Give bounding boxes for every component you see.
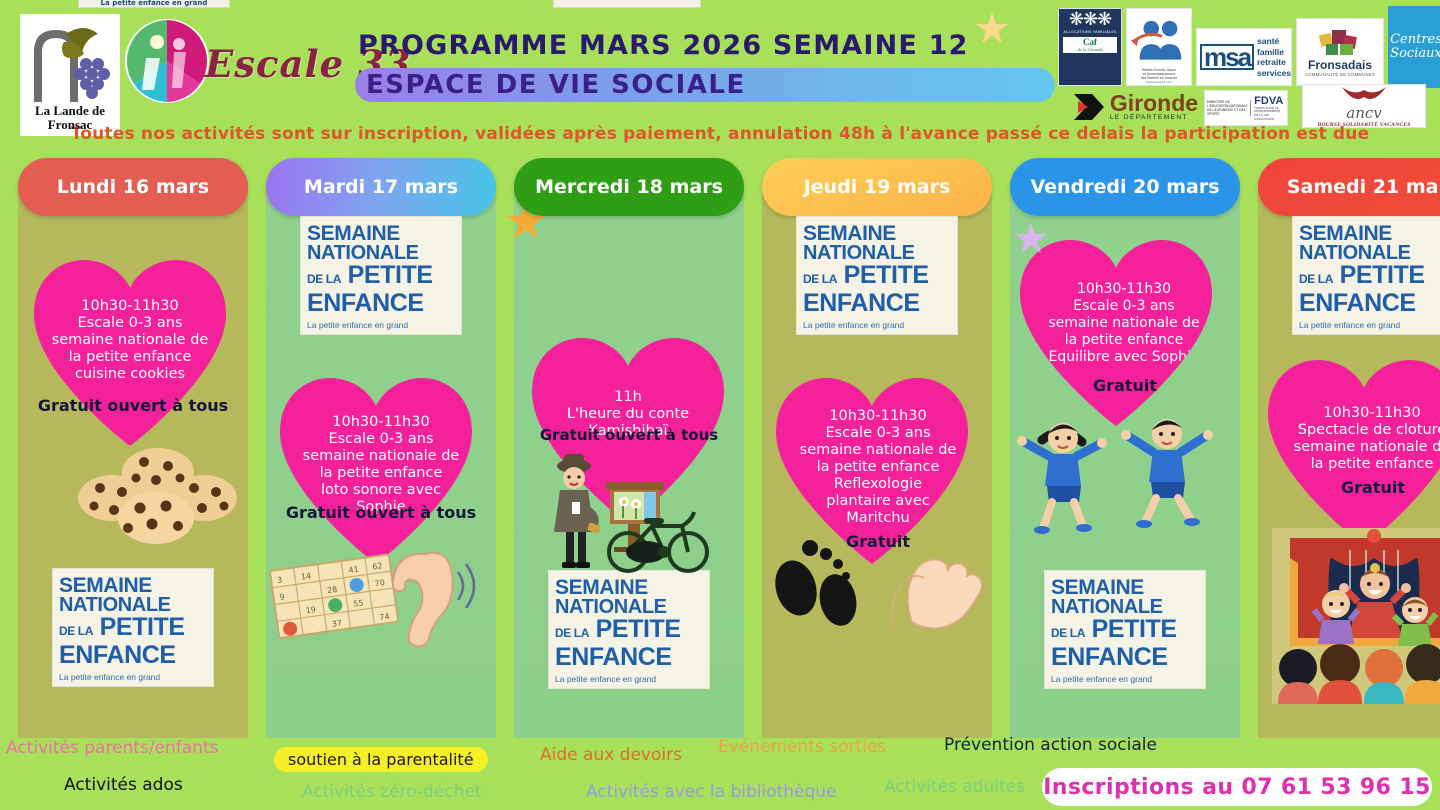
day-label: Mercredi 18 mars [535, 176, 723, 198]
seagull-icon [1340, 84, 1388, 104]
fronsadais-title: Fronsadais [1308, 58, 1372, 72]
snpe-line4: ENFANCE [555, 645, 703, 669]
free-label: Gratuit [1010, 376, 1240, 395]
snpe-line3-prefix: DE LA [59, 624, 93, 638]
free-label: Gratuit [798, 532, 958, 551]
day-header-jeudi[interactable]: Jeudi 19 mars [762, 158, 992, 216]
puppet-show-icon [1272, 528, 1440, 704]
legend-item-evenements: Evénements sorties [718, 737, 886, 757]
parents-icon: Réseau Ecoute, Appui et Accompagnement d… [1127, 9, 1191, 85]
bingo-card-and-ear-icon: 3144162 92870 193355 73774 [266, 536, 478, 666]
legend-bar: Activités parents/enfants soutien à la p… [0, 735, 1440, 810]
ancv-logo: ancv BOURSE SOLIDARITÉ VACANCES [1302, 84, 1426, 128]
svg-text:www.reaap33.com: www.reaap33.com [1146, 80, 1173, 84]
day-header-samedi[interactable]: Samedi 21 mars [1258, 158, 1440, 216]
snpe-line3-prefix: DE LA [803, 272, 837, 286]
msa-mark: msa [1200, 44, 1254, 70]
fdva-ministry: MINISTÈRE DE L'ÉDUCATION NATIONALE DE LA… [1207, 100, 1251, 116]
activity-text: 10h30-11h30 Spectacle de cloture semaine… [1292, 405, 1440, 473]
centres-sociaux-logo: Centres Sociaux [1388, 6, 1440, 88]
kids-jumping-icon [1016, 404, 1234, 534]
snpe-line4: ENFANCE [1051, 645, 1199, 669]
snpe-line1: SEMAINE [555, 578, 703, 598]
snpe-poster: SEMAINE NATIONALE DE LA PETITE ENFANCE L… [300, 216, 462, 335]
snpe-line1: SEMAINE [1299, 224, 1440, 244]
day-label: Samedi 21 mars [1287, 176, 1440, 198]
legend-item-adultes: Activités adultes [884, 777, 1025, 797]
svg-text:74: 74 [379, 612, 390, 622]
snpe-tagline: La petite enfance en grand [803, 320, 951, 330]
day-label: Lundi 16 mars [57, 176, 209, 198]
day-column-samedi: Samedi 21 mars SEMAINE NATIONALE DE LA P… [1258, 158, 1440, 738]
svg-text:62: 62 [372, 561, 383, 571]
partner-logos: ❋❋❋ ALLOCATIONS FAMILIALES Caf de la Gir… [1054, 4, 1436, 126]
snpe-poster: SEMAINE NATIONALE DE LA PETITE ENFANCE L… [52, 568, 214, 687]
free-label: Gratuit ouvert à tous [514, 426, 744, 444]
activity-text: 10h30-11h30 Escale 0-3 ans semaine natio… [50, 298, 211, 383]
day-column-mardi: Mardi 17 mars SEMAINE NATIONALE DE LA PE… [266, 158, 496, 738]
snpe-line3-prefix: DE LA [1051, 626, 1085, 640]
gironde-logo: Gironde LE DÉPARTEMENT [1070, 88, 1200, 126]
snpe-tagline: La petite enfance en grand [555, 674, 703, 684]
day-column-jeudi: Jeudi 19 mars SEMAINE NATIONALE DE LA PE… [762, 158, 992, 738]
snpe-line1: SEMAINE [1051, 578, 1199, 598]
legend-item-parents-enfants: Activités parents/enfants [6, 738, 218, 758]
svg-text:14: 14 [300, 571, 311, 581]
activity-text: 10h30-11h30 Escale 0-3 ans semaine natio… [301, 414, 462, 516]
poster-header: La Lande de Fronsac Escale 33 PROGRAMME … [0, 0, 1440, 128]
msa-logo: msa santé famille retraite services [1196, 28, 1292, 86]
snpe-tagline: La petite enfance en grand [1051, 674, 1199, 684]
svg-text:28: 28 [327, 585, 338, 595]
snpe-poster: SEMAINE NATIONALE DE LA PETITE ENFANCE L… [1044, 570, 1206, 689]
subtitle-text: ESPACE DE VIE SOCIALE [366, 70, 746, 100]
legend-item-aide-devoirs: Aide aux devoirs [540, 745, 682, 765]
snpe-line4: ENFANCE [59, 643, 207, 667]
day-column-lundi: Lundi 16 mars 10h30-11h30 Escale 0-3 ans… [18, 158, 248, 738]
day-header-mercredi[interactable]: Mercredi 18 mars [514, 158, 744, 216]
activity-text: 10h30-11h30 Escale 0-3 ans semaine natio… [1046, 281, 1201, 366]
ancv-title: ancv [1346, 104, 1381, 122]
escale33-emblem-icon [124, 18, 210, 104]
snpe-line1: SEMAINE [307, 224, 455, 244]
registration-notice: Toutes nos activités sont sur inscriptio… [0, 124, 1440, 144]
free-label: Gratuit ouvert à tous [18, 396, 248, 415]
fronsadais-mark-icon [1316, 28, 1364, 58]
snpe-line3: PETITE [100, 613, 185, 641]
legend-item-prevention: Prévention action sociale [944, 735, 1157, 755]
snpe-line3: PETITE [844, 261, 929, 289]
day-label: Jeudi 19 mars [804, 176, 951, 198]
snpe-line3: PETITE [348, 261, 433, 289]
svg-text:55: 55 [353, 598, 364, 608]
snpe-line3-prefix: DE LA [1299, 272, 1333, 286]
day-header-lundi[interactable]: Lundi 16 mars [18, 158, 248, 216]
fronsadais-sub: COMMUNAUTÉ DE COMMUNES [1305, 72, 1375, 77]
fdva-sub: FONDS POUR LE DÉVELOPPEMENT DE LA VIE AS… [1254, 107, 1285, 121]
legend-item-parentalite: soutien à la parentalité [274, 747, 488, 772]
page-title: PROGRAMME MARS 2026 SEMAINE 12 [358, 30, 969, 61]
kamishibai-storyteller-icon [536, 448, 720, 573]
fdva-title: FDVA [1254, 95, 1285, 107]
day-header-mardi[interactable]: Mardi 17 mars [266, 158, 496, 216]
msa-word: santé [1257, 36, 1291, 47]
cookies-icon [78, 440, 238, 550]
day-label: Vendredi 20 mars [1030, 176, 1219, 198]
fronsadais-logo: Fronsadais COMMUNAUTÉ DE COMMUNES [1296, 18, 1384, 86]
la-lande-de-fronsac-logo: La Lande de Fronsac [20, 14, 120, 136]
reaap-logo: Réseau Ecoute, Appui et Accompagnement d… [1126, 8, 1192, 86]
centres-sociaux-title: Centres Sociaux [1388, 33, 1440, 61]
svg-text:19: 19 [305, 605, 316, 615]
snpe-line4: ENFANCE [803, 291, 951, 315]
svg-text:70: 70 [374, 578, 385, 588]
snpe-line4: ENFANCE [1299, 291, 1440, 315]
week-grid: Lundi 16 mars 10h30-11h30 Escale 0-3 ans… [18, 158, 1424, 738]
caf-logo: ❋❋❋ ALLOCATIONS FAMILIALES Caf de la Gir… [1058, 8, 1122, 86]
snpe-line1: SEMAINE [59, 576, 207, 596]
snpe-line3: PETITE [1340, 261, 1425, 289]
arch-grapes-icon [20, 18, 120, 106]
decorative-star-icon [975, 12, 1009, 46]
free-label: Gratuit [1258, 478, 1440, 497]
msa-word: services [1257, 68, 1291, 79]
snpe-line3: PETITE [1092, 615, 1177, 643]
snpe-line1: SEMAINE [803, 224, 951, 244]
svg-text:41: 41 [348, 565, 359, 575]
snpe-line3: PETITE [596, 615, 681, 643]
snpe-poster: SEMAINE NATIONALE DE LA PETITE ENFANCE L… [548, 570, 710, 689]
svg-text:37: 37 [331, 618, 342, 628]
caf-title: ALLOCATIONS FAMILIALES [1063, 30, 1116, 34]
gironde-mark-icon [1072, 90, 1106, 124]
snpe-line3-prefix: DE LA [555, 626, 589, 640]
day-column-mercredi: Mercredi 18 mars 11h L'heure du conte Ka… [514, 158, 744, 738]
contact-pill[interactable]: Inscriptions au 07 61 53 96 15 [1042, 768, 1432, 806]
snpe-tagline: La petite enfance en grand [307, 320, 455, 330]
snpe-tagline: La petite enfance en grand [1299, 320, 1440, 330]
legend-item-bibliotheque: Activités avec la bibliothèque [586, 782, 837, 802]
day-column-vendredi: Vendredi 20 mars 10h30-11h30 Escale 0-3 … [1010, 158, 1240, 738]
contact-phone-text: Inscriptions au 07 61 53 96 15 [1043, 775, 1431, 800]
snpe-line3-prefix: DE LA [307, 272, 341, 286]
legend-item-ados: Activités ados [64, 775, 183, 795]
free-label: Gratuit ouvert à tous [266, 503, 496, 522]
msa-word: famille [1257, 47, 1291, 58]
day-header-vendredi[interactable]: Vendredi 20 mars [1010, 158, 1240, 216]
msa-word: retraite [1257, 57, 1291, 68]
snpe-tagline: La petite enfance en grand [59, 672, 207, 682]
fdva-logo: MINISTÈRE DE L'ÉDUCATION NATIONALE DE LA… [1204, 90, 1288, 126]
la-lande-de-fronsac-label: La Lande de Fronsac [20, 104, 120, 132]
day-label: Mardi 17 mars [304, 176, 458, 198]
caf-sub: de la Gironde [1063, 47, 1116, 52]
snpe-poster: SEMAINE NATIONALE DE LA PETITE ENFANCE L… [796, 216, 958, 335]
snpe-poster: SEMAINE NATIONALE DE LA PETITE ENFANCE L… [1292, 216, 1440, 335]
gironde-sub: LE DÉPARTEMENT [1110, 114, 1198, 121]
snpe-line4: ENFANCE [307, 291, 455, 315]
gironde-title: Gironde [1110, 93, 1198, 114]
legend-item-zero-dechet: Activités zéro-déchet [302, 782, 482, 802]
caf-main: Caf [1063, 38, 1116, 47]
